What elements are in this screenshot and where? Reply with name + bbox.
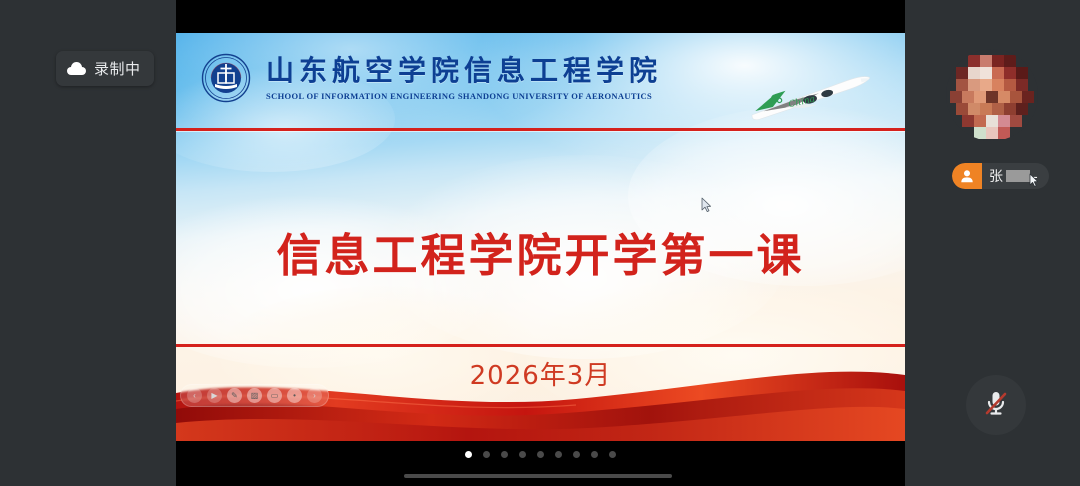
header-divider-line <box>176 128 905 131</box>
pager-dot[interactable] <box>465 451 472 458</box>
horizontal-scrollbar[interactable] <box>404 474 672 478</box>
pager-dot[interactable] <box>483 451 490 458</box>
next-slide-button[interactable]: › <box>307 388 322 403</box>
recording-badge: 录制中 <box>56 51 154 86</box>
highlighter-tool-button[interactable]: ▨ <box>247 388 262 403</box>
shared-screen-stage[interactable]: 山东航空学院信息工程学院 SCHOOL OF INFORMATION ENGIN… <box>176 0 905 486</box>
powerpoint-slideshow-toolbar[interactable]: ‹ ▶ ✎ ▨ ▭ • › <box>180 384 329 407</box>
mic-mute-toggle-button[interactable] <box>966 375 1026 435</box>
cloud-icon <box>67 62 86 75</box>
footer-divider-line <box>176 344 905 347</box>
school-name-en: SCHOOL OF INFORMATION ENGINEERING SHANDO… <box>266 91 662 101</box>
school-emblem-icon <box>201 53 251 103</box>
pager-dot[interactable] <box>609 451 616 458</box>
slide-header: 山东航空学院信息工程学院 SCHOOL OF INFORMATION ENGIN… <box>176 33 905 121</box>
school-name-cn: 山东航空学院信息工程学院 <box>266 55 662 87</box>
pager-dot[interactable] <box>501 451 508 458</box>
slide-pager-dots[interactable] <box>176 451 905 458</box>
more-options-button[interactable]: • <box>287 388 302 403</box>
school-name-block: 山东航空学院信息工程学院 SCHOOL OF INFORMATION ENGIN… <box>266 55 662 101</box>
left-panel: 录制中 <box>0 0 176 486</box>
previous-slide-button[interactable]: ‹ <box>187 388 202 403</box>
pager-dot[interactable] <box>519 451 526 458</box>
recording-label: 录制中 <box>94 58 141 79</box>
person-icon <box>952 163 982 189</box>
slide-title: 信息工程学院开学第一课 <box>176 219 905 284</box>
play-slideshow-button[interactable]: ▶ <box>207 388 222 403</box>
airplane-icon: China <box>731 69 883 121</box>
participant-name-badge[interactable]: 张 - <box>952 163 1049 189</box>
pager-dot[interactable] <box>591 451 598 458</box>
participant-name-redacted <box>1006 170 1030 182</box>
pager-dot[interactable] <box>537 451 544 458</box>
avatar[interactable] <box>946 49 1038 141</box>
pen-tool-button[interactable]: ✎ <box>227 388 242 403</box>
meeting-screen-share-window: 录制中 <box>0 0 1080 486</box>
mic-muted-icon <box>981 388 1011 423</box>
laser-pointer-button[interactable]: ▭ <box>267 388 282 403</box>
mouse-cursor-icon <box>701 197 712 213</box>
mouse-cursor-icon <box>1029 173 1039 188</box>
pager-dot[interactable] <box>573 451 580 458</box>
participant-name-prefix: 张 <box>989 166 1003 186</box>
presentation-slide[interactable]: 山东航空学院信息工程学院 SCHOOL OF INFORMATION ENGIN… <box>176 33 905 441</box>
pager-dot[interactable] <box>555 451 562 458</box>
